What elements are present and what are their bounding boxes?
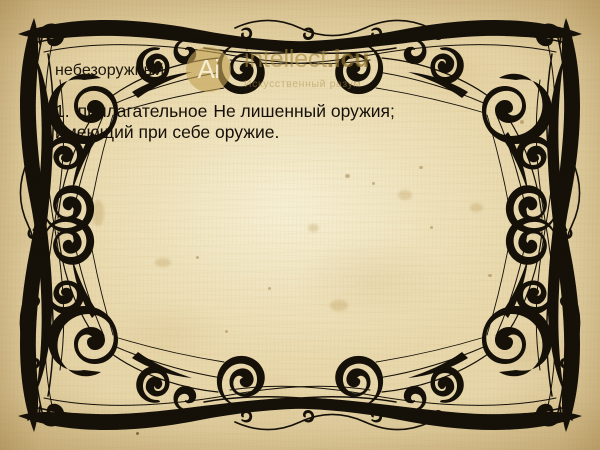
entry-definition: 1.прилагательноеНе лишенный оружия; имею… [55,101,415,144]
part-of-speech: прилагательное [78,101,208,121]
dictionary-entry-card: Ai intellect.icu Искусственный разум неб… [0,0,600,450]
entry-headword: небезоружный [55,62,535,80]
sense-number: 1. [55,101,70,121]
entry-content: небезоружный 1.прилагательноеНе лишенный… [55,62,535,143]
